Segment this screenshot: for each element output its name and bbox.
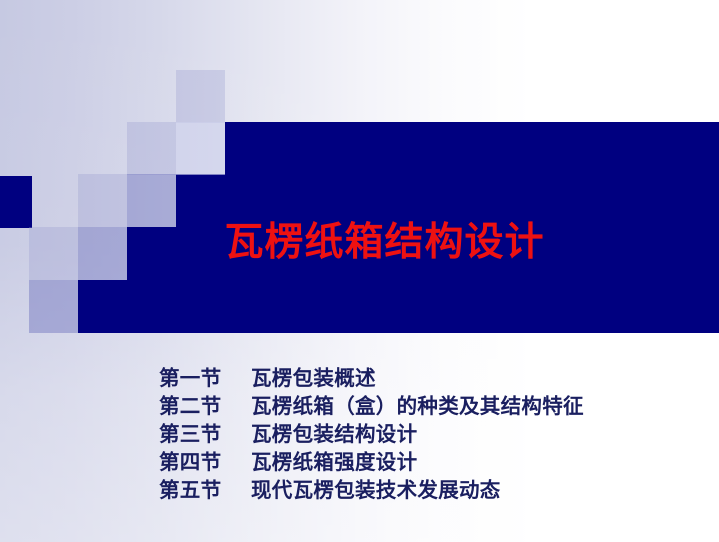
- section-title: 现代瓦楞包装技术发展动态: [251, 476, 501, 504]
- section-title: 瓦楞包装结构设计: [251, 420, 417, 448]
- section-list: 第一节瓦楞包装概述 第二节瓦楞纸箱（盒）的种类及其结构特征 第三节瓦楞包装结构设…: [159, 364, 719, 504]
- section-title: 瓦楞纸箱强度设计: [251, 448, 417, 476]
- decorative-square-3: [176, 122, 225, 175]
- section-number: 第四节: [159, 448, 251, 476]
- section-list-item: 第三节瓦楞包装结构设计: [159, 420, 719, 448]
- section-title: 瓦楞纸箱（盒）的种类及其结构特征: [251, 392, 584, 420]
- section-list-item: 第一节瓦楞包装概述: [159, 364, 719, 392]
- section-number: 第五节: [159, 476, 251, 504]
- section-number: 第一节: [159, 364, 251, 392]
- section-number: 第三节: [159, 420, 251, 448]
- navy-panel-step-3: [78, 280, 127, 333]
- decorative-square-8: [29, 280, 78, 333]
- section-list-item: 第二节瓦楞纸箱（盒）的种类及其结构特征: [159, 392, 719, 420]
- slide-title: 瓦楞纸箱结构设计: [0, 219, 719, 267]
- decorative-square-1: [176, 70, 225, 123]
- section-title: 瓦楞包装概述: [251, 364, 376, 392]
- decorative-square-2: [127, 122, 176, 175]
- presentation-slide: 瓦楞纸箱结构设计 第一节瓦楞包装概述 第二节瓦楞纸箱（盒）的种类及其结构特征 第…: [0, 0, 719, 542]
- section-list-item: 第四节瓦楞纸箱强度设计: [159, 448, 719, 476]
- section-list-item: 第五节现代瓦楞包装技术发展动态: [159, 476, 719, 504]
- section-number: 第二节: [159, 392, 251, 420]
